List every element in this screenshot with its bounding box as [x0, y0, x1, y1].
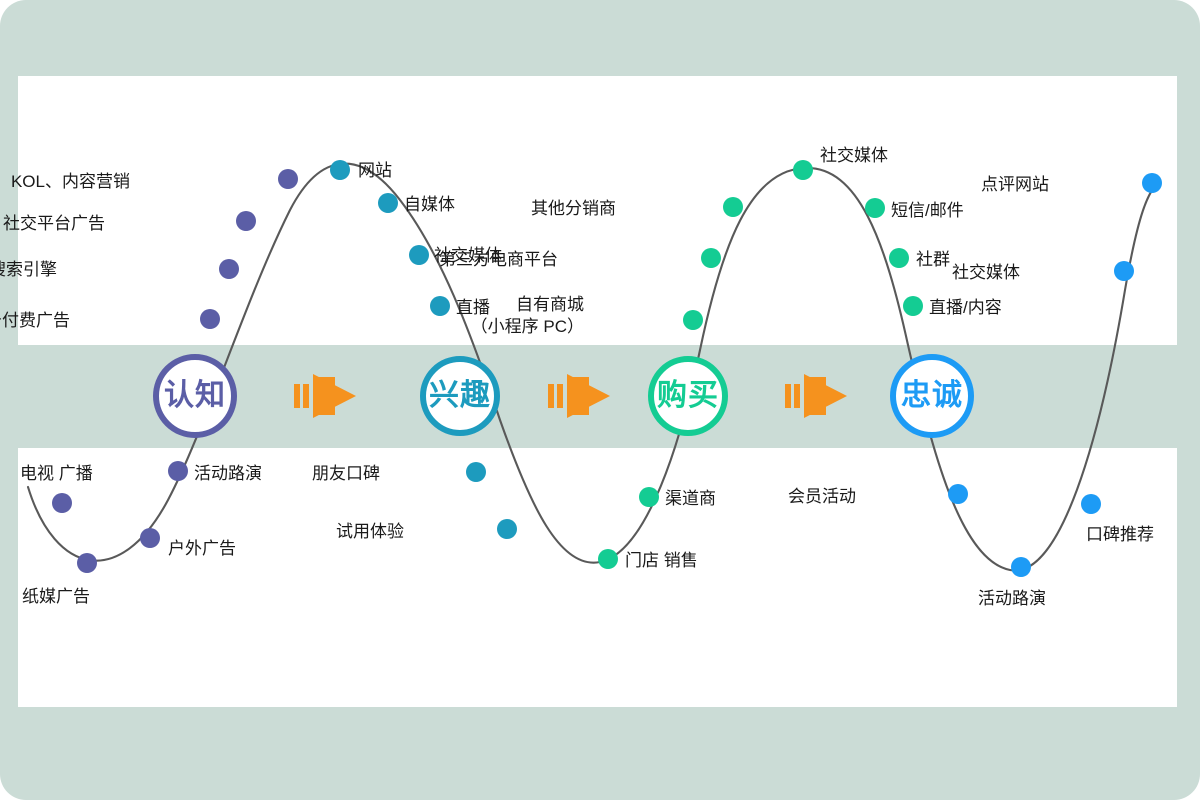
touchpoint-dot[interactable] [948, 484, 968, 504]
touchpoint-dot[interactable] [598, 549, 618, 569]
touchpoint-dot[interactable] [639, 487, 659, 507]
touchpoint-dot[interactable] [219, 259, 239, 279]
touchpoint-dot[interactable] [52, 493, 72, 513]
touchpoint-label: 活动路演 [194, 463, 262, 485]
stage-label-interest: 兴趣 [429, 381, 491, 411]
stage-node-loyalty[interactable]: 忠诚 [890, 354, 974, 438]
touchpoint-dot[interactable] [330, 160, 350, 180]
touchpoint-label: 试用体验 [336, 521, 404, 543]
touchpoint-label: 门店 销售 [625, 550, 698, 572]
arrow-purchase-loyalty-icon [785, 374, 849, 418]
touchpoint-label: 朋友口碑 [312, 463, 380, 485]
touchpoint-dot[interactable] [409, 245, 429, 265]
touchpoint-label: 社交平台广告 [3, 213, 105, 235]
touchpoint-label: 点击付费广告 [0, 310, 70, 332]
touchpoint-dot[interactable] [1011, 557, 1031, 577]
touchpoint-dot[interactable] [140, 528, 160, 548]
touchpoint-label: 自媒体 [404, 194, 455, 216]
touchpoint-label: 短信/邮件 [891, 200, 964, 222]
touchpoint-dot[interactable] [378, 193, 398, 213]
touchpoint-label: 社交媒体 [820, 145, 888, 167]
arrow-awareness-interest-icon [294, 374, 358, 418]
touchpoint-dot[interactable] [1081, 494, 1101, 514]
marketing-funnel-diagram: 电视 广播纸媒广告户外广告活动路演点击付费广告信息流+搜索引擎社交平台广告KOL… [0, 0, 1200, 800]
touchpoint-dot[interactable] [200, 309, 220, 329]
touchpoint-dot[interactable] [903, 296, 923, 316]
touchpoint-dot[interactable] [701, 248, 721, 268]
touchpoint-label: 点评网站 [981, 174, 1049, 196]
stage-node-awareness[interactable]: 认知 [153, 354, 237, 438]
touchpoint-label: 户外广告 [168, 538, 236, 560]
touchpoint-label: 电视 广播 [20, 463, 93, 485]
stage-node-purchase[interactable]: 购买 [648, 356, 728, 436]
touchpoint-dot[interactable] [466, 462, 486, 482]
touchpoint-dot[interactable] [77, 553, 97, 573]
stage-label-awareness: 认知 [164, 381, 226, 411]
stage-node-interest[interactable]: 兴趣 [420, 356, 500, 436]
touchpoint-label: 社群 [916, 249, 950, 271]
touchpoint-label: 其他分销商 [531, 198, 616, 220]
touchpoint-dot[interactable] [236, 211, 256, 231]
touchpoint-label: KOL、内容营销 [11, 171, 130, 193]
touchpoint-dot[interactable] [1142, 173, 1162, 193]
touchpoint-label: 网站 [358, 160, 392, 182]
touchpoint-label: 自有商城（小程序 PC） [471, 294, 584, 338]
touchpoint-dot[interactable] [1114, 261, 1134, 281]
arrow-interest-purchase-icon [548, 374, 612, 418]
touchpoint-label: 第三方电商平台 [439, 249, 558, 271]
touchpoint-dot[interactable] [865, 198, 885, 218]
touchpoint-label: 社交媒体 [952, 262, 1020, 284]
touchpoint-dot[interactable] [168, 461, 188, 481]
touchpoint-label: 活动路演 [978, 588, 1046, 610]
touchpoint-dot[interactable] [430, 296, 450, 316]
touchpoint-label: 口碑推荐 [1086, 524, 1154, 546]
touchpoint-label: 信息流+搜索引擎 [0, 259, 57, 281]
touchpoint-label: 会员活动 [788, 486, 856, 508]
touchpoint-dot[interactable] [278, 169, 298, 189]
touchpoint-dot[interactable] [723, 197, 743, 217]
touchpoint-label: 纸媒广告 [22, 586, 90, 608]
stage-label-loyalty: 忠诚 [901, 381, 963, 411]
stage-label-purchase: 购买 [657, 381, 719, 411]
touchpoint-dot[interactable] [497, 519, 517, 539]
touchpoint-dot[interactable] [889, 248, 909, 268]
touchpoint-label: 直播/内容 [929, 297, 1002, 319]
touchpoint-label: 渠道商 [665, 488, 716, 510]
touchpoint-dot[interactable] [793, 160, 813, 180]
touchpoint-dot[interactable] [683, 310, 703, 330]
